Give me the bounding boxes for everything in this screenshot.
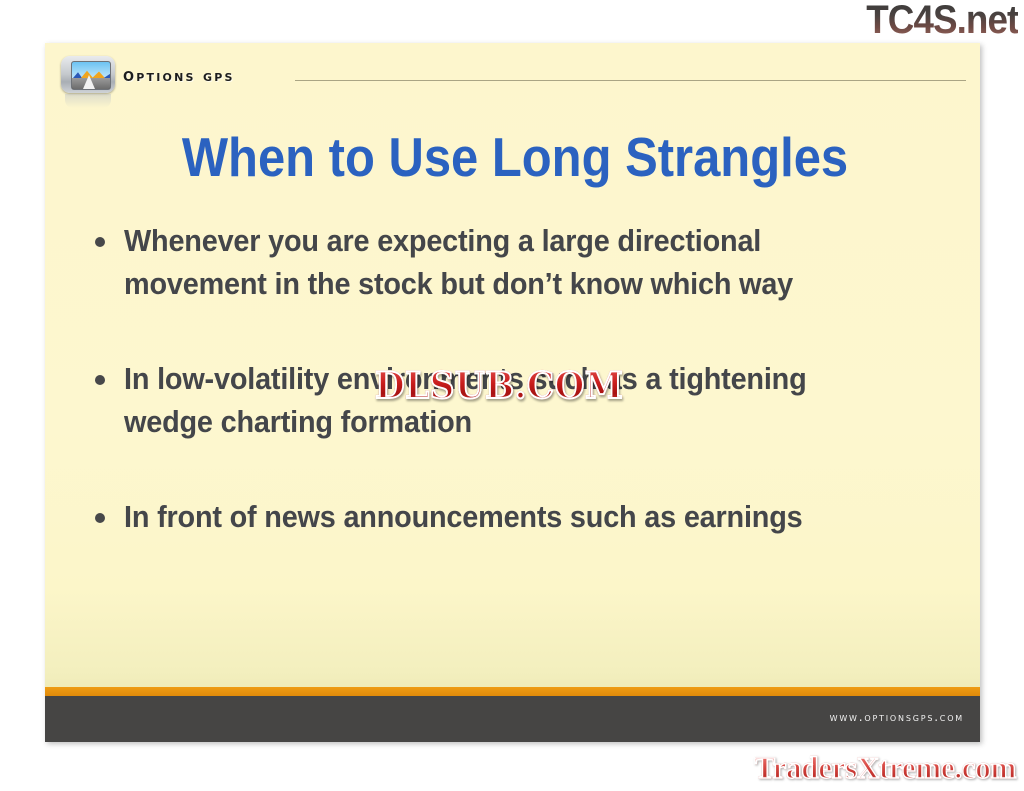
- list-item-text: Whenever you are expecting a large direc…: [124, 219, 897, 305]
- dlsub-watermark: DLSUB.COM: [375, 368, 623, 404]
- brand-name: Options GPS: [123, 64, 235, 86]
- list-item: Whenever you are expecting a large direc…: [95, 219, 955, 305]
- page-title: When to Use Long Strangles: [123, 127, 906, 187]
- list-item: In front of news announcements such as e…: [95, 495, 955, 538]
- slide-footer: www.OptionsGPS.com: [45, 696, 980, 742]
- header-divider: [295, 80, 966, 81]
- slide-header: Options GPS: [45, 43, 980, 105]
- bullet-dot-icon: [95, 375, 105, 385]
- footer-url: www.OptionsGPS.com: [830, 710, 964, 724]
- map-road-icon: [83, 75, 95, 89]
- gps-device-screen: [71, 61, 111, 90]
- tradersxtreme-watermark: TradersXtreme.com: [755, 751, 1016, 785]
- tc4s-watermark: TC4S.net: [866, 0, 1018, 40]
- bullet-dot-icon: [95, 513, 105, 523]
- gps-device-reflection: [65, 94, 111, 108]
- presentation-slide: Options GPS When to Use Long Strangles W…: [45, 43, 980, 742]
- gps-device-icon: [61, 56, 115, 96]
- bullet-dot-icon: [95, 237, 105, 247]
- list-item-text: In front of news announcements such as e…: [124, 495, 897, 538]
- footer-accent-stripe: [45, 687, 980, 696]
